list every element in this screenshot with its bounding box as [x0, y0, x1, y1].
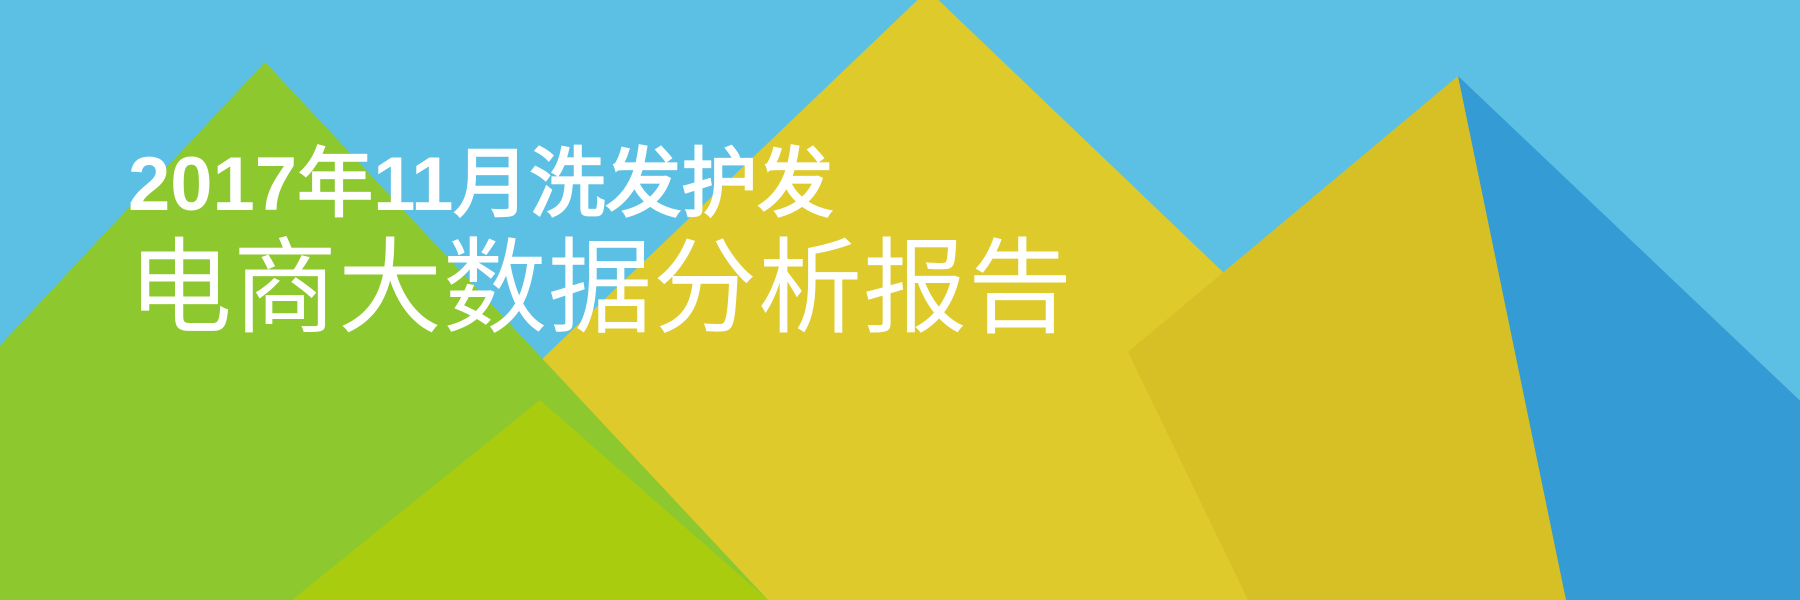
title-line-primary: 2017年11月洗发护发 — [128, 146, 1073, 224]
cover-title: 2017年11月洗发护发 电商大数据分析报告 — [128, 146, 1073, 348]
report-cover-banner: 2017年11月洗发护发 电商大数据分析报告 — [0, 0, 1800, 600]
title-line-secondary: 电商大数据分析报告 — [128, 230, 1073, 349]
